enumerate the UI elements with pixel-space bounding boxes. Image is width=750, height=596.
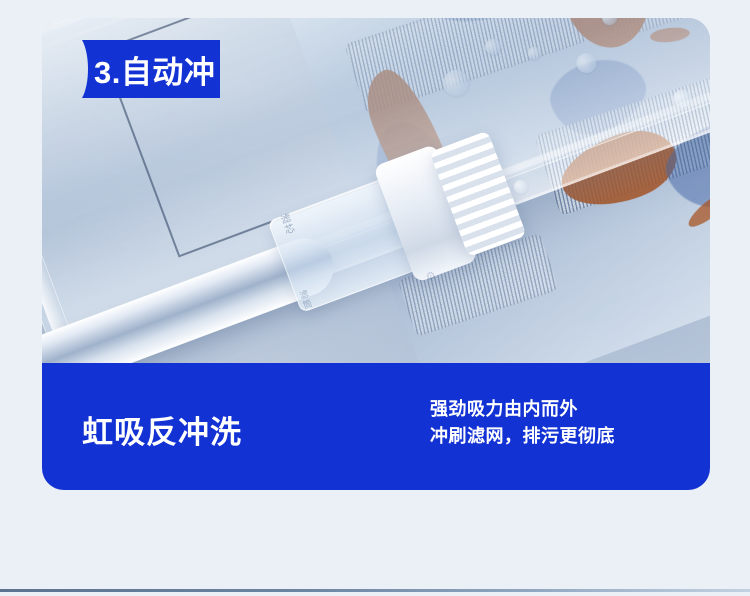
page-bottom-rule (0, 589, 750, 592)
panel-subtext: 强劲吸力由内而外 冲刷滤网，排污更彻底 (430, 396, 615, 450)
caption-panel: 虹吸反冲洗 强劲吸力由内而外 冲刷滤网，排污更彻底 (42, 363, 710, 490)
feature-card: 滤芯 滤筒 ⚙ 虹吸反冲洗 强劲吸力由内而外 冲刷滤网，排污更彻底 3.自动冲 (42, 18, 710, 490)
panel-subtext-line-1: 强劲吸力由内而外 (430, 396, 615, 423)
step-badge-label: 3.自动冲 (68, 40, 220, 98)
page-root: 滤芯 滤筒 ⚙ 虹吸反冲洗 强劲吸力由内而外 冲刷滤网，排污更彻底 3.自动冲 (0, 0, 750, 596)
panel-headline: 虹吸反冲洗 (82, 407, 242, 452)
panel-subtext-line-2: 冲刷滤网，排污更彻底 (430, 423, 615, 450)
step-badge: 3.自动冲 (68, 40, 220, 98)
